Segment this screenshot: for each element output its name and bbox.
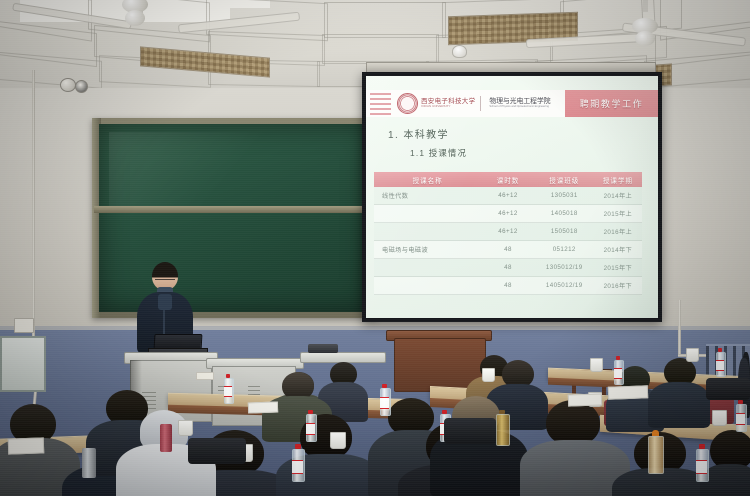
university-name-block: 西安电子科技大学 XIDIAN UNIVERSITY: [421, 98, 475, 108]
handout-paper[interactable]: [248, 401, 278, 413]
cell-term: 2015年上: [594, 209, 642, 218]
table-header-row: 授课名称 课时数 授课班级 授课学期: [374, 172, 642, 187]
cell-hours: 46+12: [481, 210, 535, 217]
paper-cup[interactable]: [686, 348, 699, 362]
water-bottle[interactable]: [380, 384, 389, 414]
attendee: [648, 358, 710, 424]
water-bottle[interactable]: [736, 400, 745, 430]
table-row: 48 1405012/19 2016年下: [374, 277, 642, 295]
university-name-en: XIDIAN UNIVERSITY: [421, 105, 475, 108]
paper-cup[interactable]: [178, 420, 193, 436]
table-row: 电磁场与电磁波 48 051212 2014年下: [374, 241, 642, 259]
wall-conduit: [678, 300, 681, 356]
water-bottle[interactable]: [614, 356, 622, 383]
table-row: 46+12 1405018 2015年上: [374, 205, 642, 223]
table-row: 48 1305012/19 2015年下: [374, 259, 642, 277]
cell-term: 2016年上: [594, 227, 642, 236]
slide-sub-heading: 1.1 授课情况: [410, 147, 467, 159]
cell-hours: 48: [481, 264, 535, 271]
paper-cup[interactable]: [482, 368, 495, 382]
tea-bottle[interactable]: [496, 410, 508, 444]
cell-class: 1305012/19: [535, 264, 594, 271]
water-bottle[interactable]: [292, 444, 303, 480]
presenter-inner-shirt: [158, 294, 172, 310]
handout-paper[interactable]: [608, 385, 648, 399]
water-bottle[interactable]: [224, 374, 232, 402]
handout-paper[interactable]: [568, 393, 602, 406]
wall-conduit: [32, 70, 35, 360]
sport-bottle[interactable]: [648, 430, 662, 472]
college-name-block: 物理与光电工程学院 School of Physics and Optoelec…: [489, 98, 550, 108]
paper-cup[interactable]: [330, 432, 346, 449]
cell-hours: 46+12: [481, 228, 535, 235]
chalk-rail: [94, 206, 373, 213]
cell-class: 1505018: [535, 228, 594, 235]
security-camera-icon: [75, 80, 88, 93]
wall-socket[interactable]: [14, 318, 34, 333]
shoulder-bag[interactable]: [188, 438, 246, 464]
college-name-en: School of Physics and Optoelectronic Eng…: [489, 106, 550, 109]
slide-title-banner: 聘期教学工作: [565, 90, 658, 117]
header-divider: [480, 96, 481, 111]
cell-course: 线性代数: [374, 191, 481, 200]
cell-class: 1405012/19: [535, 282, 594, 289]
cell-term: 2016年下: [594, 281, 642, 290]
handout-paper[interactable]: [8, 437, 45, 454]
col-course-name: 授课名称: [374, 175, 481, 185]
water-bottle[interactable]: [306, 410, 315, 440]
cell-class: 051212: [535, 246, 594, 253]
cabinet-label: [196, 372, 214, 380]
cell-hours: 48: [481, 246, 535, 253]
slide-canvas: 西安电子科技大学 XIDIAN UNIVERSITY 物理与光电工程学院 Sch…: [366, 76, 658, 318]
table-row: 46+12 1505018 2016年上: [374, 223, 642, 241]
col-term: 授课学期: [594, 175, 642, 185]
paper-cup[interactable]: [590, 358, 603, 372]
presenter-glasses-icon: [155, 279, 175, 284]
course-table: 授课名称 课时数 授课班级 授课学期 线性代数 46+12 1305031 20…: [374, 172, 642, 295]
col-class: 授课班级: [535, 175, 594, 185]
smoke-detector-icon: [452, 45, 467, 58]
shoulder-bag[interactable]: [706, 378, 750, 400]
ceiling-speaker-icon: [60, 78, 76, 92]
cell-class: 1305031: [535, 192, 594, 199]
slide-title-text: 聘期教学工作: [580, 97, 644, 110]
classroom-photo: 西安电子科技大学 XIDIAN UNIVERSITY 物理与光电工程学院 Sch…: [0, 0, 750, 496]
cell-term: 2014年下: [594, 245, 642, 254]
ceiling-fan: [70, 0, 300, 50]
table-row: 线性代数 46+12 1305031 2014年上: [374, 187, 642, 205]
cell-course: 电磁场与电磁波: [374, 245, 481, 254]
water-bottle[interactable]: [716, 348, 724, 375]
water-bottle[interactable]: [696, 444, 707, 480]
shoulder-bag[interactable]: [444, 418, 496, 444]
decorative-stripes-icon: [370, 93, 391, 115]
side-whiteboard: [0, 336, 46, 392]
cell-class: 1405018: [535, 210, 594, 217]
equipment-monitor: [308, 344, 338, 353]
cell-term: 2015年下: [594, 263, 642, 272]
cell-term: 2014年上: [594, 191, 642, 200]
cell-hours: 48: [481, 282, 535, 289]
thermos-mug[interactable]: [82, 448, 96, 478]
slide-section-heading: 1. 本科教学: [388, 126, 449, 141]
thermos-mug[interactable]: [160, 424, 172, 452]
col-hours: 课时数: [481, 175, 535, 185]
cell-hours: 46+12: [481, 192, 535, 199]
projection-screen: 西安电子科技大学 XIDIAN UNIVERSITY 物理与光电工程学院 Sch…: [362, 72, 662, 322]
presenter-head: [152, 262, 178, 290]
university-seal-icon: [397, 93, 418, 114]
ceiling-fan: [530, 0, 750, 56]
paper-cup[interactable]: [712, 410, 727, 426]
